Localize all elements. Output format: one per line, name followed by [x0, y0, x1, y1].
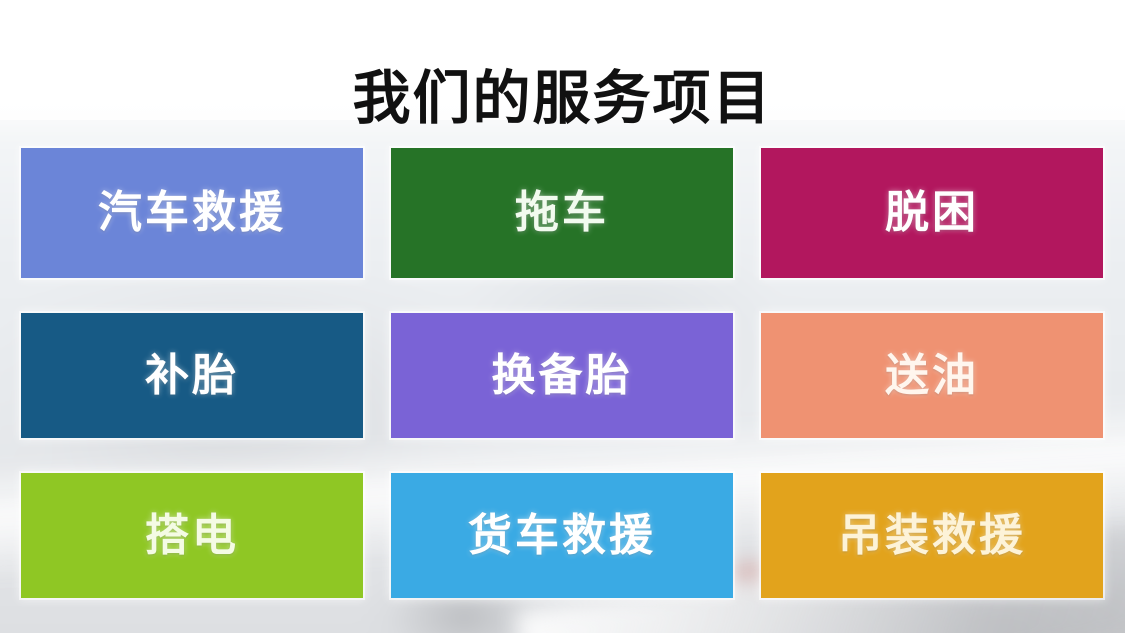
service-tile-label: 送油	[885, 354, 979, 398]
service-poster: 我们的服务项目 汽车救援 拖车 脱困 补胎 换备胎 送油 搭电 货车救援 吊装救…	[0, 0, 1125, 633]
service-tile-7[interactable]: 搭电	[21, 473, 363, 598]
service-tile-5[interactable]: 换备胎	[391, 313, 733, 438]
service-tile-2[interactable]: 拖车	[391, 148, 733, 278]
service-tile-label: 汽车救援	[98, 191, 286, 235]
service-tile-4[interactable]: 补胎	[21, 313, 363, 438]
service-tile-label: 换备胎	[492, 354, 633, 398]
service-tile-8[interactable]: 货车救援	[391, 473, 733, 598]
page-title: 我们的服务项目	[0, 61, 1125, 135]
service-tile-grid: 汽车救援 拖车 脱困 补胎 换备胎 送油 搭电 货车救援 吊装救援	[21, 148, 1103, 598]
service-tile-6[interactable]: 送油	[761, 313, 1103, 438]
service-tile-1[interactable]: 汽车救援	[21, 148, 363, 278]
service-tile-label: 吊装救援	[838, 514, 1026, 558]
service-tile-label: 拖车	[515, 191, 609, 235]
service-tile-3[interactable]: 脱困	[761, 148, 1103, 278]
service-tile-label: 货车救援	[468, 514, 656, 558]
service-tile-9[interactable]: 吊装救援	[761, 473, 1103, 598]
service-tile-label: 补胎	[145, 354, 239, 398]
service-tile-label: 脱困	[885, 191, 979, 235]
service-tile-label: 搭电	[145, 514, 239, 558]
